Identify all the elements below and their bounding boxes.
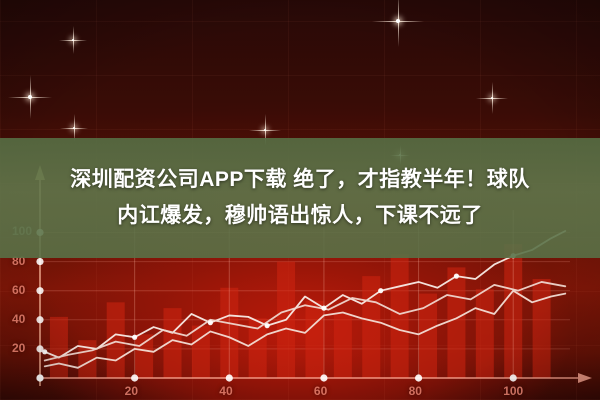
x-axis-tick-label: 80 [409,384,422,398]
y-axis-tick-label: 40 [12,312,25,326]
headline-line-1: 深圳配资公司APP下载 绝了，才指教半年！球队 [70,165,530,195]
promo-banner: 2040608010020406080100 深圳配资公司APP下载 绝了，才指… [0,0,600,400]
x-axis-tick-label: 100 [503,384,523,398]
x-axis-tick-label: 20 [125,384,138,398]
y-axis-tick-label: 20 [12,341,25,355]
x-axis-tick-label: 60 [314,384,327,398]
x-axis-tick-label: 40 [219,384,232,398]
headline-line-2: 内讧爆发，穆帅语出惊人，下课不远了 [117,201,483,231]
y-axis-tick-label: 60 [12,283,25,297]
headline-text-block: 深圳配资公司APP下载 绝了，才指教半年！球队 内讧爆发，穆帅语出惊人，下课不远… [0,138,600,258]
